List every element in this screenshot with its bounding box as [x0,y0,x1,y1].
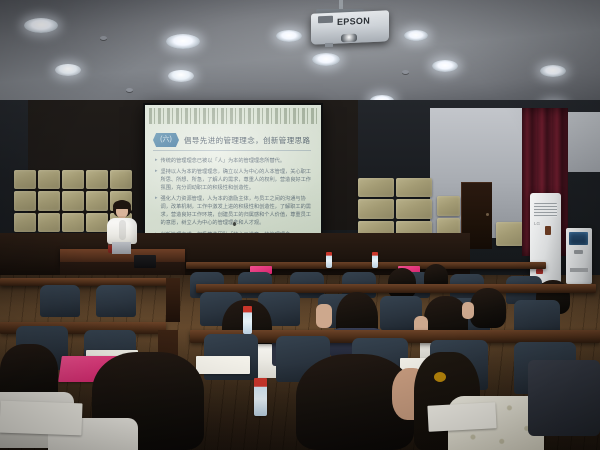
auditorium-seat[interactable] [40,285,80,317]
desk-side-panel [166,278,180,322]
acoustic-panel-grid-center [358,178,432,240]
presenter [104,200,140,255]
slide-divider [153,150,311,151]
door-handle-icon[interactable] [486,213,489,216]
water-bottle [254,378,267,416]
air-conditioner-control-panel[interactable] [545,226,551,235]
ceiling-downlight [24,18,58,33]
slide-bullet: 坚持以人为本的管理理念，确立以人为中心的人本管理，关心职工所思、所想、所急，了解… [161,168,313,192]
slide-section-badge: (六) [153,133,179,147]
backpack [528,360,600,436]
ceiling-downlight [168,70,194,82]
lecture-room-photo: EPSON (六) 倡导先进的管理理念，创新管理思路 ▸传统的管理理念已被以「人… [0,0,600,450]
attendee-back-right [470,288,506,328]
slide-title: 倡导先进的管理理念，创新管理思路 [184,135,310,146]
attendee-front-left [0,344,58,406]
water-bottle [326,252,332,268]
water-dispenser-display [569,232,588,245]
air-conditioner-grille-icon [534,203,557,217]
attendee-front-center [92,352,204,450]
water-dispenser-drip-tray [570,268,588,272]
attendee-arm [316,304,332,328]
presenter-fringe [113,201,131,209]
smoke-detector-icon [402,70,409,74]
handout-paper [196,356,250,374]
projector-vent-icon [318,16,333,24]
projector-brand-label: EPSON [337,15,383,27]
desk-row-far [186,262,546,269]
ceiling-downlight [55,64,81,76]
smoke-detector-icon [126,88,133,92]
air-conditioner-brand-label: LG [534,221,540,226]
ceiling-downlight [432,60,458,72]
ceiling-downlight [404,30,428,41]
ceiling-downlight [312,53,340,66]
smoke-detector-icon [100,36,107,40]
projection-screen: (六) 倡导先进的管理理念，创新管理思路 ▸传统的管理理念已被以「人」为本的管理… [143,103,323,240]
air-conditioner-badge [536,269,543,274]
slide-heading-row: (六) 倡导先进的管理理念，创新管理思路 [153,133,310,147]
projector-lens-icon [341,34,357,43]
laser-pointer-dot [233,222,236,226]
attendee-back-center [388,268,416,298]
ceiling-downlight [166,34,200,49]
bullet-icon: ▸ [155,157,158,165]
slide-bullet: 传统的管理理念已被以「人」为本的管理理念所替代。 [161,157,313,165]
water-dispenser-tap-icon[interactable] [574,250,583,254]
auditorium-seat[interactable] [96,285,136,317]
hair-tie-accessory [434,372,446,382]
desk-row-left [0,278,170,286]
water-bottle [243,306,252,334]
slide-decorative-border [149,108,317,124]
slide-bullet: 强化人力资源管理，人为本的激励主体，与员工之间的沟通与协调，改革机制，工作中激发… [161,195,313,227]
bullet-icon: ▸ [155,195,158,227]
ceiling-downlight [276,30,302,42]
ceiling-downlight [540,65,566,77]
handout-paper [427,402,496,432]
podium-monitor [134,255,156,268]
presenter-trousers [112,242,131,254]
presenter-fold-shadow [119,220,126,240]
desk-row-mid [196,284,596,293]
projector-foot [325,43,333,47]
water-bottle [372,252,378,268]
bullet-icon: ▸ [155,168,158,192]
handout-paper [0,401,83,436]
attendee-arm [462,302,474,319]
